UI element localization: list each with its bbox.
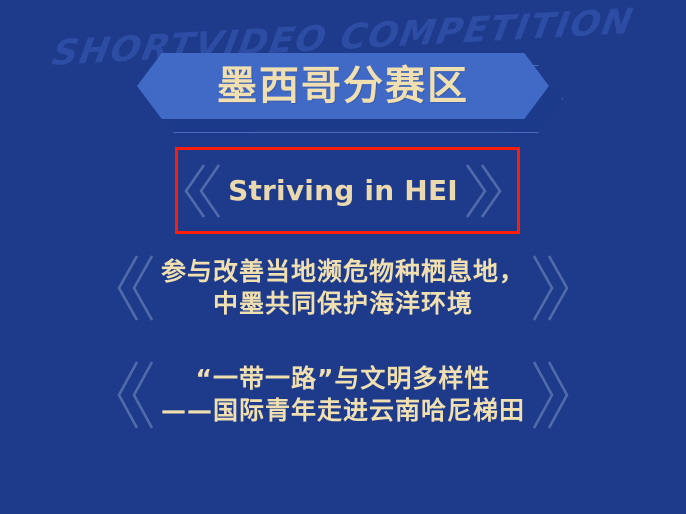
presentation-slide: SHORTVIDEO COMPETITION 墨西哥分赛区 Striving i… [0,0,686,514]
entry-line: ——国际青年走进云南哈尼梯田 [161,395,525,427]
entry-row-chinese-2[interactable]: “一带一路”与文明多样性 ——国际青年走进云南哈尼梯田 [0,352,686,438]
title-banner: 墨西哥分赛区 [137,53,549,119]
double-chevron-right-icon [525,352,577,438]
entry-line: 参与改善当地濒危物种栖息地， [161,256,525,288]
entry-row-english[interactable]: Striving in HEI [0,156,686,226]
double-chevron-left-icon [109,352,161,438]
entry-title-english: Striving in HEI [228,173,458,209]
entry-line: 中墨共同保护海洋环境 [161,288,525,320]
page-title: 墨西哥分赛区 [217,66,469,106]
entry-row-chinese-1[interactable]: 参与改善当地濒危物种栖息地， 中墨共同保护海洋环境 [0,246,686,330]
entry-line: “一带一路”与文明多样性 [161,363,525,395]
double-chevron-left-icon [109,246,161,330]
entry-title-chinese-2: “一带一路”与文明多样性 ——国际青年走进云南哈尼梯田 [161,363,525,427]
double-chevron-left-icon [176,156,228,226]
double-chevron-right-icon [525,246,577,330]
title-banner-shape: 墨西哥分赛区 [137,53,549,119]
entry-title-chinese-1: 参与改善当地濒危物种栖息地， 中墨共同保护海洋环境 [161,256,525,320]
double-chevron-right-icon [458,156,510,226]
